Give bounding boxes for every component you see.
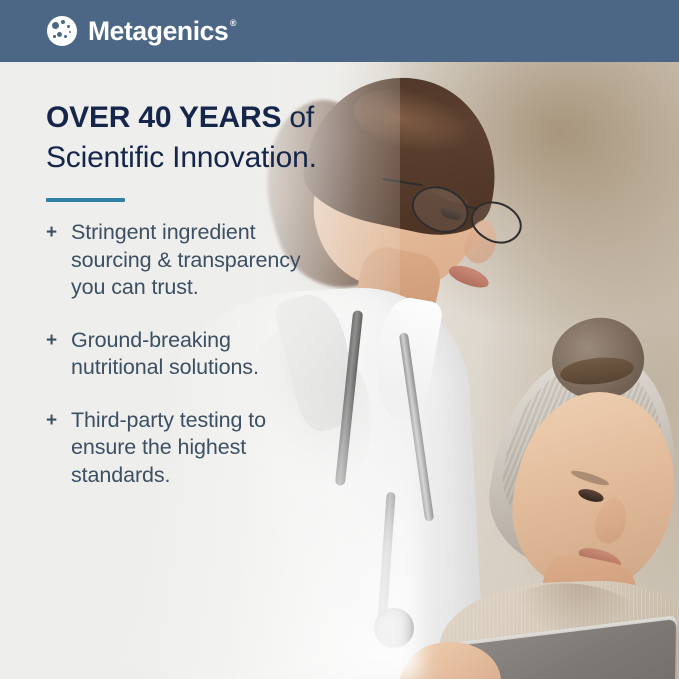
headline-emphasis: OVER 40 YEARS (46, 101, 281, 134)
headline-subline: Scientific Innovation. (46, 141, 317, 174)
list-item: + Third-party testing to ensure the high… (46, 407, 376, 490)
plus-icon: + (46, 327, 71, 353)
accent-divider (46, 198, 125, 202)
list-item: + Stringent ingredient sourcing & transp… (46, 219, 376, 302)
brand-name-text: Metagenics (88, 18, 228, 45)
list-item-label: Ground-breaking nutritional solutions. (71, 327, 321, 382)
list-item: + Ground-breaking nutritional solutions. (46, 327, 376, 382)
headline-connector: of (281, 101, 314, 134)
metagenics-molecule-icon (47, 16, 77, 46)
hero-content: OVER 40 YEARS of Scientific Innovation. … (46, 98, 376, 489)
plus-icon: + (46, 407, 71, 433)
brand-wordmark: Metagenics ® (88, 18, 236, 45)
brand-header: Metagenics ® (0, 0, 679, 62)
plus-icon: + (46, 219, 71, 245)
list-item-label: Stringent ingredient sourcing & transpar… (71, 219, 321, 302)
registered-trademark-mark: ® (230, 19, 236, 28)
feature-list: + Stringent ingredient sourcing & transp… (46, 219, 376, 489)
page-title: OVER 40 YEARS of Scientific Innovation. (46, 98, 376, 177)
promo-graphic: Metagenics ® OVER 40 YEARS of Scientific… (0, 0, 679, 679)
list-item-label: Third-party testing to ensure the highes… (71, 407, 321, 490)
